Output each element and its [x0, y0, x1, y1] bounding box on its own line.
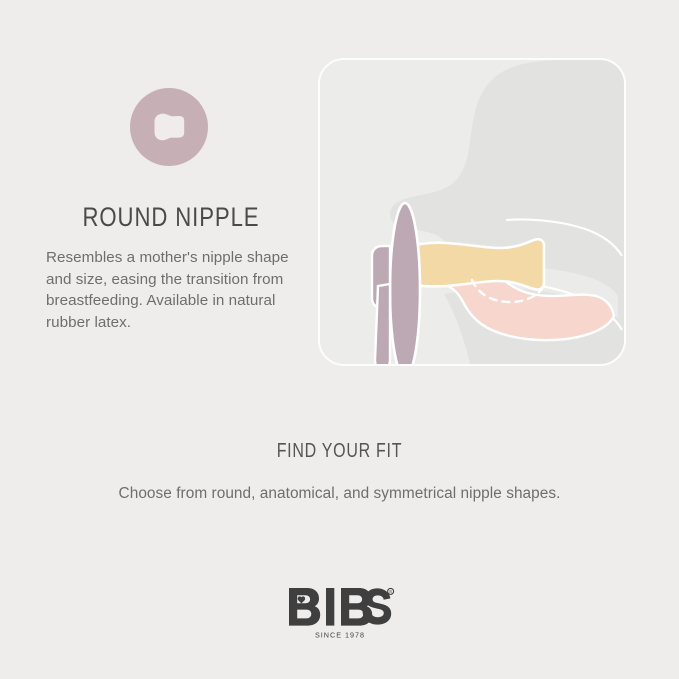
pacifier-shield-shape: [390, 203, 420, 364]
bibs-wordmark-icon: R SINCE 1978: [285, 586, 395, 640]
feature-section: ROUND NIPPLE Resembles a mother's nipple…: [0, 0, 679, 400]
find-your-fit-section: FIND YOUR FIT Choose from round, anatomi…: [0, 440, 679, 503]
illustration-panel: [318, 58, 626, 366]
feature-description: Resembles a mother's nipple shape and si…: [46, 247, 296, 333]
find-your-fit-title-wrap: FIND YOUR FIT: [0, 440, 679, 463]
product-feature-infographic: ROUND NIPPLE Resembles a mother's nipple…: [0, 0, 679, 679]
svg-text:R: R: [389, 589, 392, 594]
round-nipple-shape-icon: [130, 88, 208, 166]
feature-text-column: ROUND NIPPLE Resembles a mother's nipple…: [46, 88, 296, 333]
brand-logo: R SINCE 1978: [0, 586, 679, 645]
feature-title: ROUND NIPPLE: [69, 202, 274, 233]
find-your-fit-subtitle: Choose from round, anatomical, and symme…: [0, 485, 679, 503]
find-your-fit-title: FIND YOUR FIT: [277, 440, 403, 463]
brand-tagline-text: SINCE 1978: [315, 631, 365, 640]
pacifier-ring-handle-shape: [375, 284, 390, 364]
